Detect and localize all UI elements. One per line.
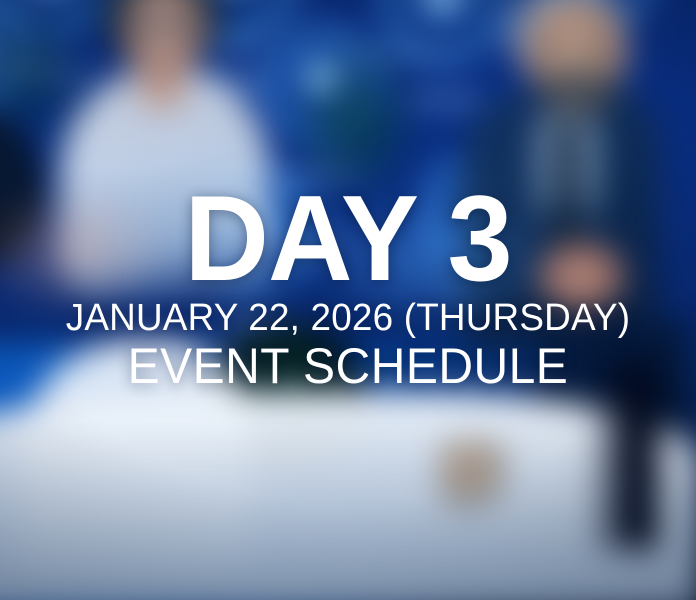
banner-text-block: DAY 3 JANUARY 22, 2026 (THURSDAY) EVENT … xyxy=(0,182,696,392)
event-subtitle: EVENT SCHEDULE xyxy=(14,340,682,392)
day-title: DAY 3 xyxy=(14,182,682,294)
event-schedule-banner: DAY 3 JANUARY 22, 2026 (THURSDAY) EVENT … xyxy=(0,0,696,600)
event-date: JANUARY 22, 2026 (THURSDAY) xyxy=(10,298,685,338)
